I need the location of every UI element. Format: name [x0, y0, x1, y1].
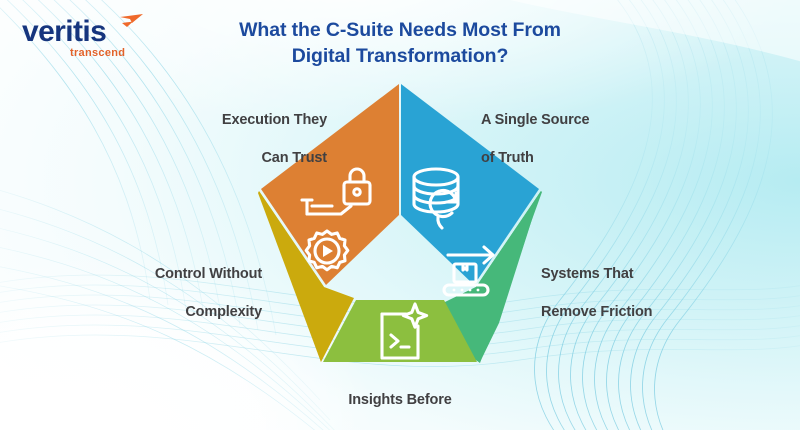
label-a-single-source-of-truth: A Single Source of Truth — [481, 92, 641, 188]
label-execution-they-can-trust: Execution They Can Trust — [182, 92, 327, 188]
label-systems-that-remove-friction: Systems That Remove Friction — [541, 246, 701, 342]
label-line-1: A Single Source — [481, 111, 641, 130]
orange-swoosh-icon — [119, 14, 145, 34]
infographic-canvas: veritis transcend What the C-Suite Needs… — [0, 0, 800, 430]
label-insights-before-issues: Insights Before Issues — [310, 372, 490, 430]
label-line-2: Can Trust — [182, 149, 327, 168]
page-title-line-2: Digital Transformation? — [190, 43, 610, 69]
label-line-1: Insights Before — [310, 391, 490, 410]
label-control-without-complexity: Control Without Complexity — [122, 246, 262, 342]
label-line-1: Systems That — [541, 265, 701, 284]
page-title-line-1: What the C-Suite Needs Most From — [190, 17, 610, 43]
label-line-2: of Truth — [481, 149, 641, 168]
brand-tagline: transcend — [70, 48, 125, 59]
brand-logo[interactable]: veritis transcend — [22, 17, 172, 65]
label-line-1: Control Without — [122, 265, 262, 284]
page-title: What the C-Suite Needs Most From Digital… — [190, 17, 610, 69]
label-line-2: Complexity — [122, 303, 262, 322]
label-line-2: Remove Friction — [541, 303, 701, 322]
label-line-1: Execution They — [182, 111, 327, 130]
brand-name: veritis — [22, 17, 106, 47]
